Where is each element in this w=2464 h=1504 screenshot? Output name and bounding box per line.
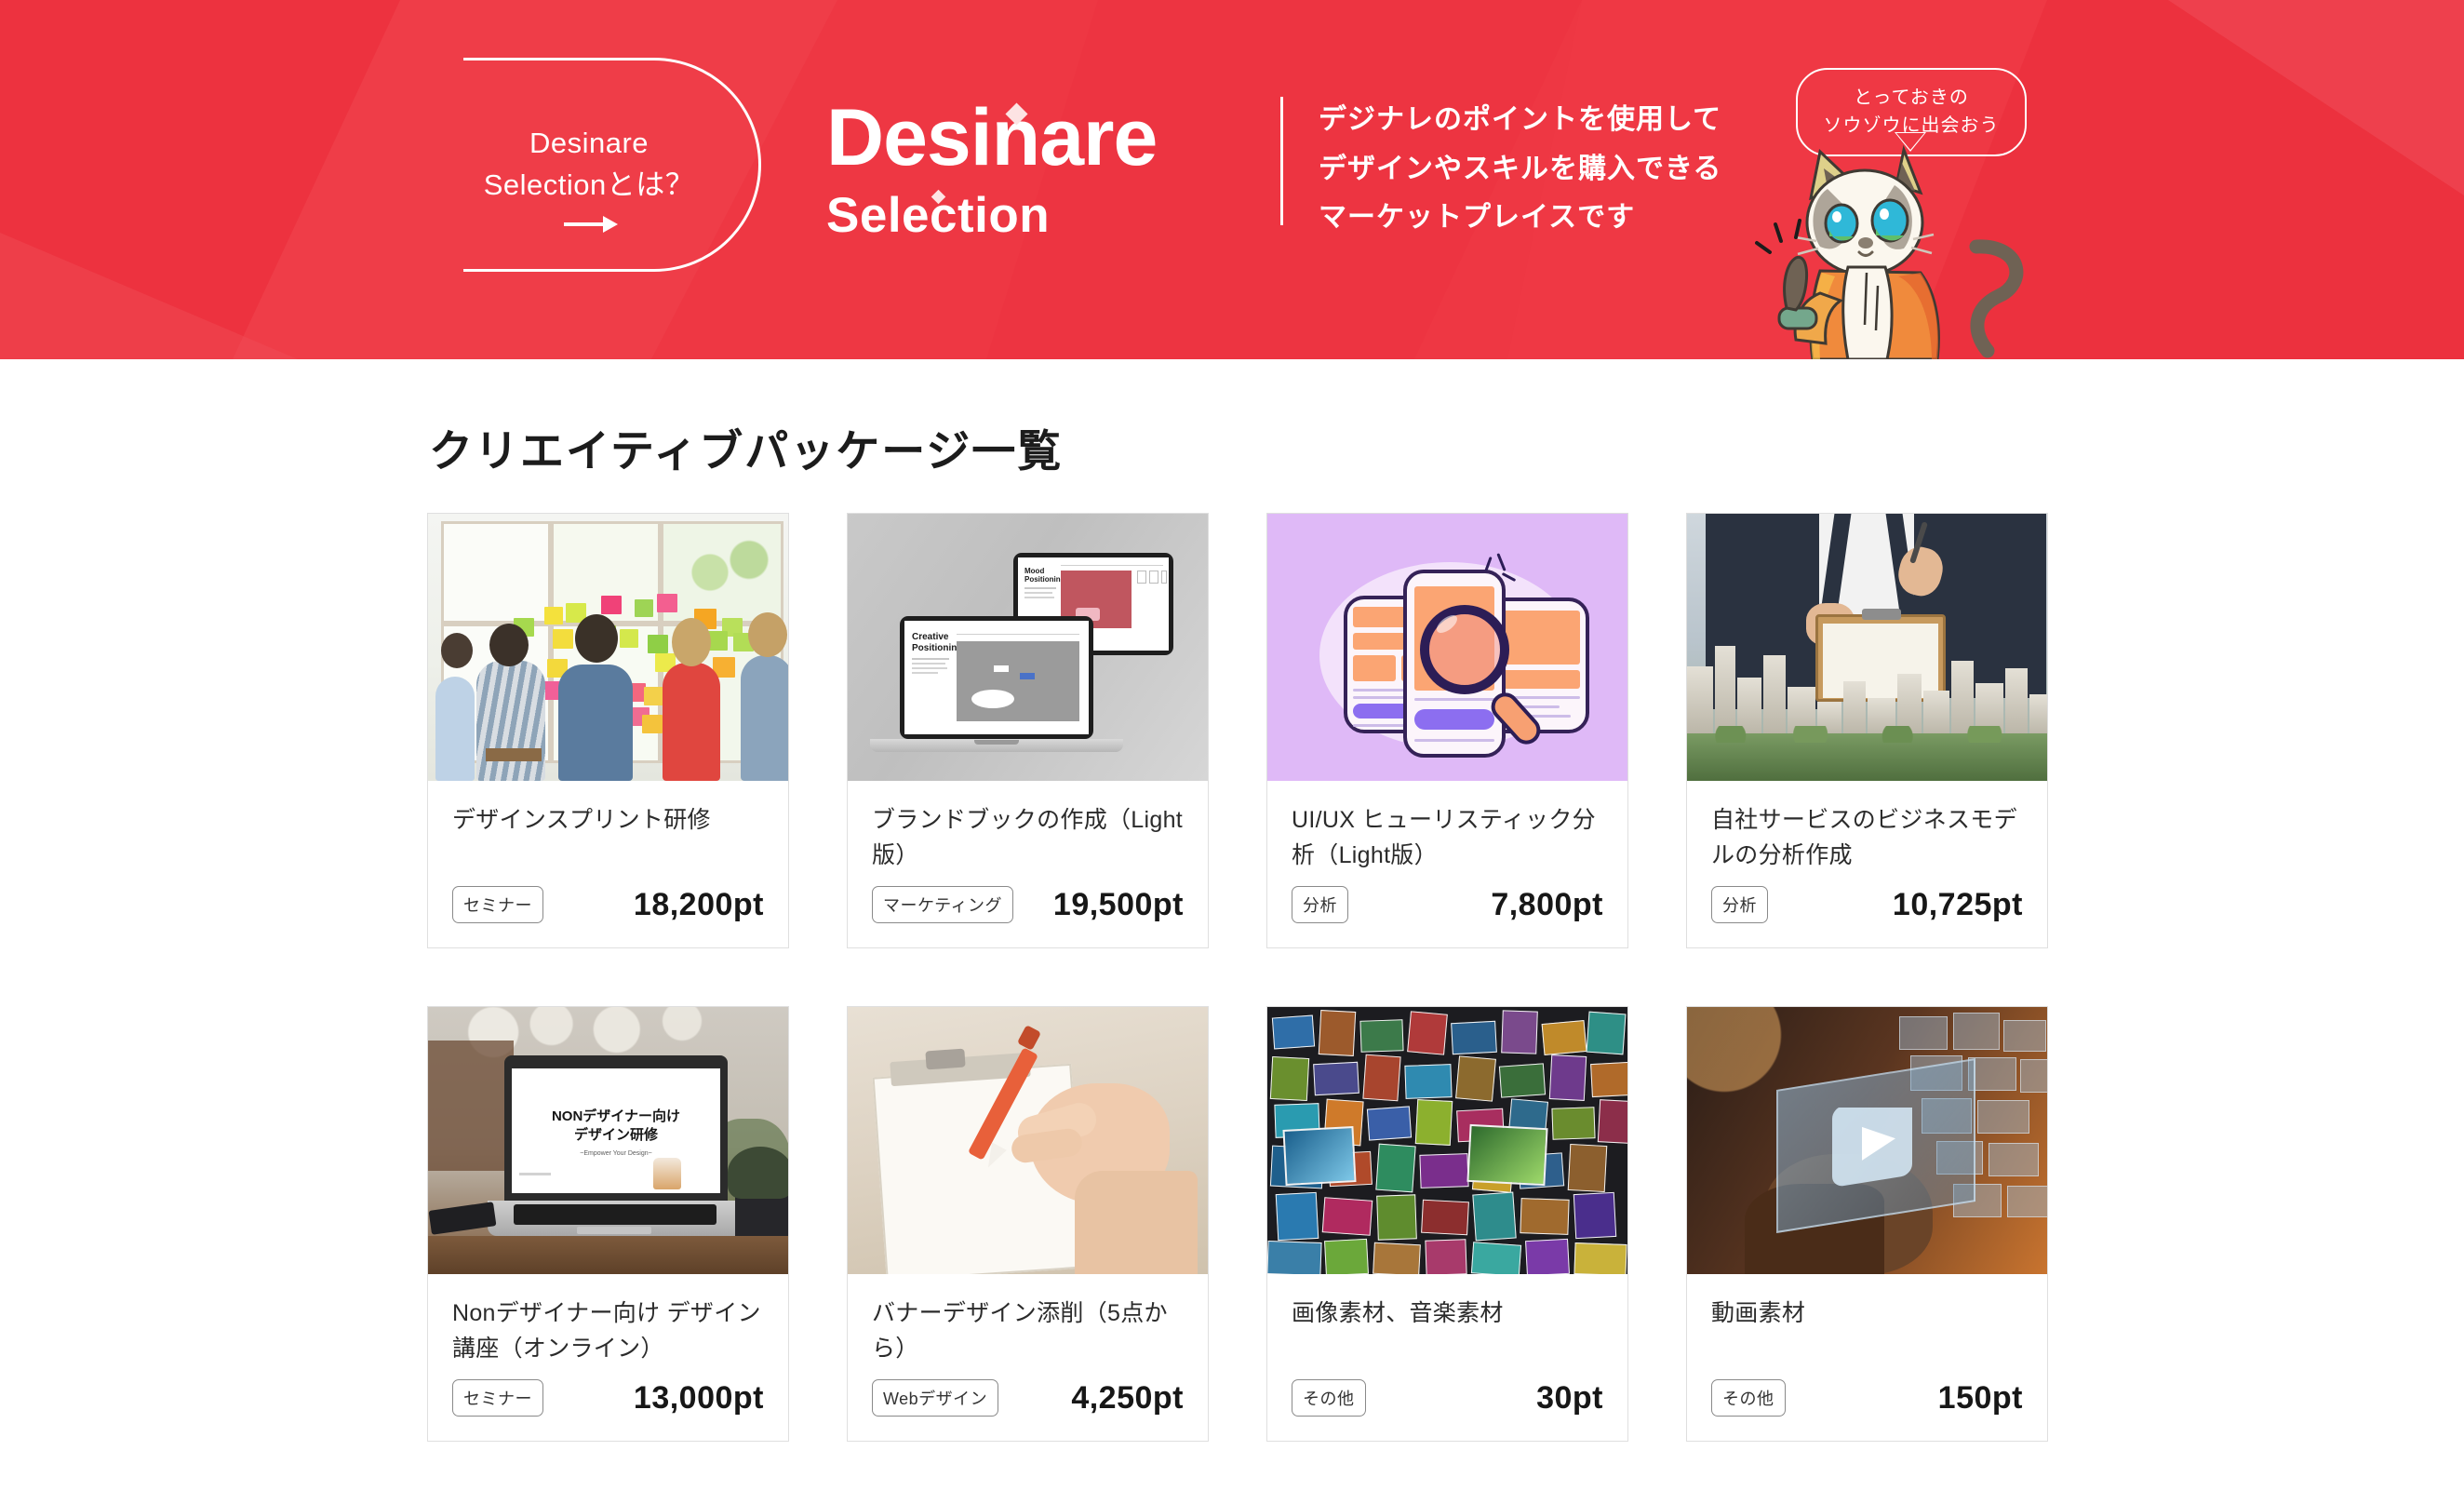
card-category-tag: その他 [1292, 1379, 1366, 1417]
card-title: Nonデザイナー向け デザイン講座（オンライン） [452, 1296, 764, 1366]
hero-vertical-divider [1280, 97, 1283, 225]
package-card[interactable]: NONデザイナー向け デザイン研修 ~Empower Your Design~ [427, 1006, 789, 1442]
card-title: デザインスプリント研修 [452, 803, 764, 873]
card-footer: Webデザイン 4,250pt [872, 1366, 1184, 1417]
laptop-tablet-mockup-photo: MoodPositioning [848, 514, 1208, 781]
logo-main-label: Desinare [826, 93, 1157, 182]
card-title: UI/UX ヒューリスティック分析（Light版） [1292, 803, 1603, 873]
card-body: 画像素材、音楽素材 その他 30pt [1267, 1274, 1627, 1441]
workshop-sticky-notes-photo [428, 514, 788, 781]
card-thumbnail [1687, 514, 2047, 781]
card-category-tag: その他 [1711, 1379, 1786, 1417]
card-price: 30pt [1536, 1380, 1603, 1417]
hero-description-line-2: デザインやスキルを購入できる [1319, 145, 1721, 195]
card-price: 10,725pt [1893, 887, 2023, 923]
card-price: 150pt [1938, 1380, 2023, 1417]
card-body: バナーデザイン添削（5点から） Webデザイン 4,250pt [848, 1274, 1208, 1441]
card-title: バナーデザイン添削（5点から） [872, 1296, 1184, 1366]
card-category-tag: Webデザイン [872, 1379, 998, 1417]
hero-description-line-3: マーケットプレイスです [1319, 194, 1721, 243]
card-price: 19,500pt [1053, 887, 1184, 923]
card-footer: セミナー 18,200pt [452, 873, 764, 923]
businessman-clipboard-city-photo [1687, 514, 2047, 781]
card-thumbnail [1687, 1007, 2047, 1274]
main-content: クリエイティブパッケージ一覧 [0, 359, 2464, 1442]
package-card[interactable]: デザインスプリント研修 セミナー 18,200pt [427, 513, 789, 948]
card-footer: セミナー 13,000pt [452, 1366, 764, 1417]
about-desinare-selection-link[interactable]: Desinare Selectionとは？ [463, 58, 761, 272]
card-body: 自社サービスのビジネスモデルの分析作成 分析 10,725pt [1687, 781, 2047, 947]
card-title: 動画素材 [1711, 1296, 2023, 1366]
card-price: 13,000pt [634, 1380, 764, 1417]
card-body: Nonデザイナー向け デザイン講座（オンライン） セミナー 13,000pt [428, 1274, 788, 1441]
laptop-on-desk-photo: NONデザイナー向け デザイン研修 ~Empower Your Design~ [428, 1007, 788, 1274]
about-link-line1: Desinare [529, 127, 649, 159]
card-price: 18,200pt [634, 887, 764, 923]
card-price: 4,250pt [1071, 1380, 1184, 1417]
card-footer: その他 30pt [1292, 1366, 1603, 1417]
package-card[interactable]: MoodPositioning [847, 513, 1209, 948]
package-card[interactable]: 自社サービスのビジネスモデルの分析作成 分析 10,725pt [1686, 513, 2048, 948]
card-thumbnail [1267, 514, 1627, 781]
page-title: クリエイティブパッケージ一覧 [427, 415, 2037, 479]
hero-description: デジナレのポイントを使用して デザインやスキルを購入できる マーケットプレイスで… [1319, 96, 1721, 243]
card-title: ブランドブックの作成（Light版） [872, 803, 1184, 873]
card-category-tag: 分析 [1292, 886, 1348, 923]
hero-header: Desinare Selectionとは？ Desinare Selection [0, 0, 2464, 359]
card-body: UI/UX ヒューリスティック分析（Light版） 分析 7,800pt [1267, 781, 1627, 947]
card-footer: 分析 7,800pt [1292, 873, 1603, 923]
photo-collage [1267, 1007, 1627, 1274]
card-thumbnail [848, 1007, 1208, 1274]
card-footer: マーケティング 19,500pt [872, 873, 1184, 923]
card-title: 自社サービスのビジネスモデルの分析作成 [1711, 803, 2023, 873]
logo-sub-text: Selection [826, 188, 1157, 245]
card-category-tag: 分析 [1711, 886, 1768, 923]
desinare-selection-logo: Desinare Selection [826, 101, 1157, 245]
logo-main-text: Desinare [826, 101, 1157, 177]
package-card[interactable]: 動画素材 その他 150pt [1686, 1006, 2048, 1442]
speech-bubble-tail [1896, 133, 1924, 150]
ui-ux-magnifier-illustration [1267, 514, 1627, 781]
thumb-slide-title: NONデザイナー向け [512, 1108, 720, 1126]
card-body: デザインスプリント研修 セミナー 18,200pt [428, 781, 788, 947]
hand-drawing-clipboard-photo [848, 1007, 1208, 1274]
card-title: 画像素材、音楽素材 [1292, 1296, 1603, 1366]
card-category-tag: セミナー [452, 1379, 543, 1417]
card-thumbnail: NONデザイナー向け デザイン研修 ~Empower Your Design~ [428, 1007, 788, 1274]
card-body: 動画素材 その他 150pt [1687, 1274, 2047, 1441]
card-thumbnail: MoodPositioning [848, 514, 1208, 781]
card-price: 7,800pt [1491, 887, 1603, 923]
package-card[interactable]: 画像素材、音楽素材 その他 30pt [1266, 1006, 1628, 1442]
package-card-grid: デザインスプリント研修 セミナー 18,200pt MoodPos [427, 513, 2037, 1442]
card-thumbnail [428, 514, 788, 781]
card-footer: その他 150pt [1711, 1366, 2023, 1417]
about-link-label: Desinare Selectionとは？ [463, 123, 715, 207]
content-container: クリエイティブパッケージ一覧 [427, 415, 2037, 1442]
thumb-slide-subtitle: ~Empower Your Design~ [512, 1150, 720, 1157]
card-category-tag: マーケティング [872, 886, 1013, 923]
video-play-tablet-photo [1687, 1007, 2047, 1274]
cat-mascot [1755, 144, 2034, 359]
package-card[interactable]: UI/UX ヒューリスティック分析（Light版） 分析 7,800pt [1266, 513, 1628, 948]
hero-description-line-1: デジナレのポイントを使用して [1319, 96, 1721, 145]
package-card[interactable]: バナーデザイン添削（5点から） Webデザイン 4,250pt [847, 1006, 1209, 1442]
arrow-right-icon [564, 214, 618, 235]
card-body: ブランドブックの作成（Light版） マーケティング 19,500pt [848, 781, 1208, 947]
about-link-line2: Selectionとは？ [484, 168, 695, 201]
card-thumbnail [1267, 1007, 1627, 1274]
thumb-slide-title-2: デザイン研修 [512, 1126, 720, 1145]
card-category-tag: セミナー [452, 886, 543, 923]
card-footer: 分析 10,725pt [1711, 873, 2023, 923]
speech-bubble-line-1: とっておきの [1807, 84, 2015, 112]
